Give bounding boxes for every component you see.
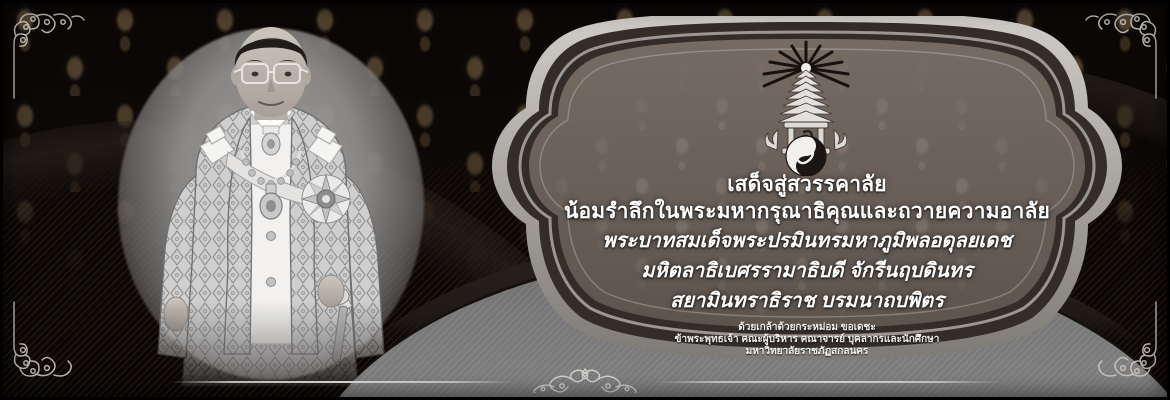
center-flourish-icon [510,367,660,393]
king-portrait [100,14,440,400]
hairline-rule-right [655,381,1000,383]
signature-line-3: มหาวิทยาลัยราชภัฏสกลนคร [480,346,1134,358]
signature-line-1: ด้วยเกล้าด้วยกระหม่อม ขอเดชะ [480,322,1134,334]
corner-filigree-icon [6,298,102,394]
memorial-text-block: เสด็จสู่สวรรคาลัย น้อมรำลึกในพระมหากรุณา… [480,172,1134,358]
royal-cypher-emblem [748,34,864,176]
cypher-medallion [786,136,826,176]
memorial-line-4: มหิตลาธิเบศรรามาธิบดี จักรีนฤบดินทร [480,256,1134,286]
memorial-line-2: น้อมรำลึกในพระมหากรุณาธิคุณและถวายความอา… [480,198,1134,226]
memorial-line-5: สยามินทราธิราช บรมนาถบพิตร [480,286,1134,316]
portrait-illustration [100,14,440,400]
corner-filigree-icon [1068,6,1164,102]
memorial-line-1: เสด็จสู่สวรรคาลัย [480,172,1134,198]
signature-line-2: ข้าพระพุทธเจ้า คณะผู้บริหาร คณาจารย์ บุค… [480,334,1134,346]
memorial-banner: เสด็จสู่สวรรคาลัย น้อมรำลึกในพระมหากรุณา… [0,0,1170,400]
hairline-rule-left [170,381,515,383]
corner-filigree-icon [6,6,102,102]
memorial-line-3: พระบาทสมเด็จพระปรมินทรมหาภูมิพลอดุลยเดช [480,226,1134,256]
